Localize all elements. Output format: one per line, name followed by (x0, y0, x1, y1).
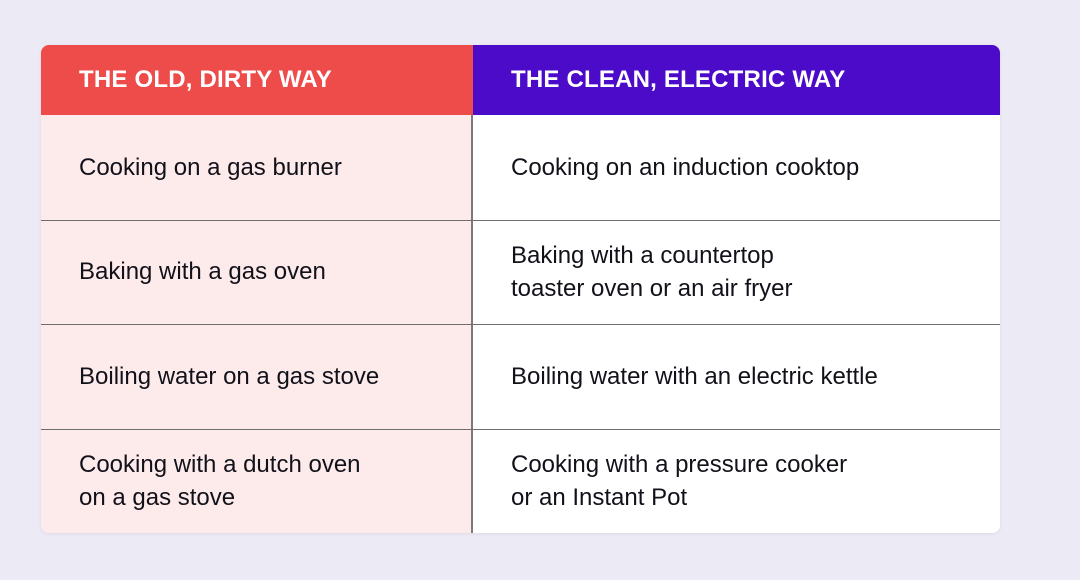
table-row: Boiling water on a gas stove Boiling wat… (41, 324, 1000, 429)
table-row: Cooking with a dutch oven on a gas stove… (41, 429, 1000, 534)
table-cell-text-old: Cooking with a dutch oven on a gas stove (79, 448, 361, 514)
table-cell-old: Cooking with a dutch oven on a gas stove (41, 429, 473, 534)
table-cell-line: Baking with a countertop (511, 239, 792, 272)
comparison-table-card: THE OLD, DIRTY WAY THE CLEAN, ELECTRIC W… (41, 45, 1000, 533)
table-cell-line: or an Instant Pot (511, 481, 847, 514)
table-row: Baking with a gas oven Baking with a cou… (41, 220, 1000, 325)
table-cell-line: Cooking with a dutch oven (79, 448, 361, 481)
table-cell-line: Boiling water on a gas stove (79, 360, 379, 393)
table-header-cell-clean: THE CLEAN, ELECTRIC WAY (473, 45, 1000, 115)
table-header-row: THE OLD, DIRTY WAY THE CLEAN, ELECTRIC W… (41, 45, 1000, 115)
table-cell-old: Boiling water on a gas stove (41, 324, 473, 429)
table-cell-text-old: Boiling water on a gas stove (79, 360, 379, 393)
table-cell-clean: Baking with a countertop toaster oven or… (473, 220, 1000, 325)
table-cell-text-clean: Cooking with a pressure cooker or an Ins… (511, 448, 847, 514)
table-header-label-clean: THE CLEAN, ELECTRIC WAY (511, 67, 845, 93)
table-cell-line: on a gas stove (79, 481, 361, 514)
table-cell-text-old: Baking with a gas oven (79, 255, 326, 288)
table-body: Cooking on a gas burner Cooking on an in… (41, 115, 1000, 533)
table-cell-text-clean: Cooking on an induction cooktop (511, 151, 859, 184)
table-cell-line: Cooking on an induction cooktop (511, 151, 859, 184)
table-cell-clean: Boiling water with an electric kettle (473, 324, 1000, 429)
table-cell-text-clean: Baking with a countertop toaster oven or… (511, 239, 792, 305)
table-cell-clean: Cooking with a pressure cooker or an Ins… (473, 429, 1000, 534)
table-cell-text-old: Cooking on a gas burner (79, 151, 342, 184)
table-cell-line: Cooking with a pressure cooker (511, 448, 847, 481)
table-cell-clean: Cooking on an induction cooktop (473, 115, 1000, 220)
table-cell-line: Baking with a gas oven (79, 255, 326, 288)
table-cell-old: Baking with a gas oven (41, 220, 473, 325)
table-row: Cooking on a gas burner Cooking on an in… (41, 115, 1000, 220)
table-cell-line: Cooking on a gas burner (79, 151, 342, 184)
table-cell-line: toaster oven or an air fryer (511, 272, 792, 305)
table-cell-line: Boiling water with an electric kettle (511, 360, 878, 393)
table-header-label-old: THE OLD, DIRTY WAY (79, 67, 332, 93)
table-cell-text-clean: Boiling water with an electric kettle (511, 360, 878, 393)
page-background: THE OLD, DIRTY WAY THE CLEAN, ELECTRIC W… (0, 0, 1080, 580)
table-cell-old: Cooking on a gas burner (41, 115, 473, 220)
table-header-cell-old: THE OLD, DIRTY WAY (41, 45, 473, 115)
